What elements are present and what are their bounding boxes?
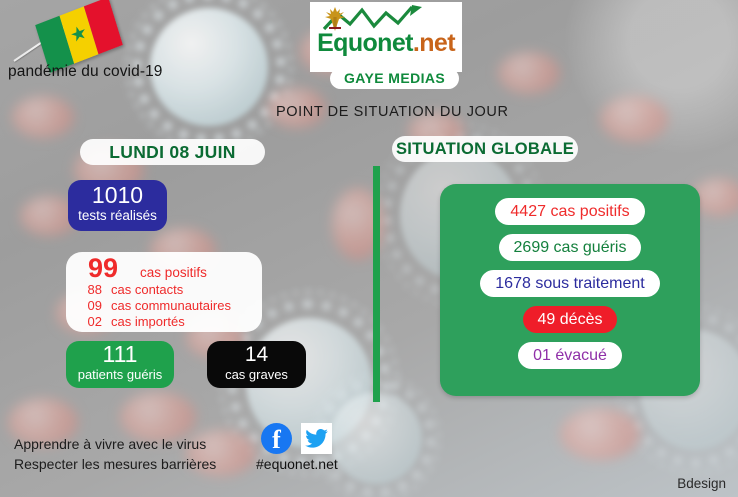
tests-card: 1010 tests réalisés xyxy=(68,180,167,231)
daily-section-title: LUNDI 08 JUIN xyxy=(80,139,265,165)
imported-label: cas importés xyxy=(111,314,185,330)
footer-message-line-2: Respecter les mesures barrières xyxy=(14,456,216,472)
imported-value: 02 xyxy=(76,314,102,330)
growth-arrow-icon xyxy=(318,4,454,32)
positive-cases-card: 99 cas positifs 88 cas contacts 09 cas c… xyxy=(66,252,262,332)
contacts-label: cas contacts xyxy=(111,282,183,298)
baobab-tree-icon xyxy=(322,4,348,31)
severe-value: 14 xyxy=(207,342,306,367)
positive-cases-label: cas positifs xyxy=(140,265,207,280)
severe-cases-card: 14 cas graves xyxy=(207,341,306,388)
severe-label: cas graves xyxy=(207,367,306,383)
global-stat-deaths: 49 décès xyxy=(523,306,618,333)
contacts-value: 88 xyxy=(76,282,102,298)
global-stat-positive: 4427 cas positifs xyxy=(495,198,644,225)
recovered-label: patients guéris xyxy=(66,367,174,383)
breakdown-row-contacts: 88 cas contacts xyxy=(66,282,262,298)
logo-subtitle: GAYE MEDIAS xyxy=(330,68,459,89)
logo-name-second: .net xyxy=(413,29,455,57)
logo-wordmark: Equonet.net xyxy=(317,31,455,56)
recovered-card: 111 patients guéris xyxy=(66,341,174,388)
breakdown-row-community: 09 cas communautaires xyxy=(66,298,262,314)
tests-label: tests réalisés xyxy=(68,208,167,224)
infographic-canvas: pandémie du covid-19 Equonet.net GAYE ME… xyxy=(0,0,738,497)
tests-value: 1010 xyxy=(68,182,167,208)
global-stat-under-treatment: 1678 sous traitement xyxy=(480,270,659,297)
facebook-icon[interactable]: f xyxy=(261,423,292,454)
global-stat-evacuated: 01 évacué xyxy=(518,342,622,369)
global-stat-recovered: 2699 cas guéris xyxy=(499,234,642,261)
breakdown-row-imported: 02 cas importés xyxy=(66,314,262,330)
report-title: POINT DE SITUATION DU JOUR xyxy=(276,104,509,120)
flag-banner-icon xyxy=(35,0,123,73)
global-section-title: SITUATION GLOBALE xyxy=(392,136,578,162)
logo-name-first: Equonet xyxy=(317,29,413,57)
community-label: cas communautaires xyxy=(111,298,231,314)
equonet-logo[interactable]: Equonet.net xyxy=(310,2,462,72)
hashtag-label: #equonet.net xyxy=(256,456,338,472)
recovered-value: 111 xyxy=(66,342,174,367)
positive-cases-main-row: 99 cas positifs xyxy=(66,255,262,282)
pandemic-label: pandémie du covid-19 xyxy=(8,63,163,81)
section-divider xyxy=(373,166,380,402)
footer-message-line-1: Apprendre à vivre avec le virus xyxy=(14,436,206,452)
positive-cases-value: 99 xyxy=(88,255,118,282)
global-stats-panel: 4427 cas positifs 2699 cas guéris 1678 s… xyxy=(440,184,700,396)
design-credit: Bdesign xyxy=(677,476,726,491)
community-value: 09 xyxy=(76,298,102,314)
twitter-icon[interactable] xyxy=(301,423,332,454)
